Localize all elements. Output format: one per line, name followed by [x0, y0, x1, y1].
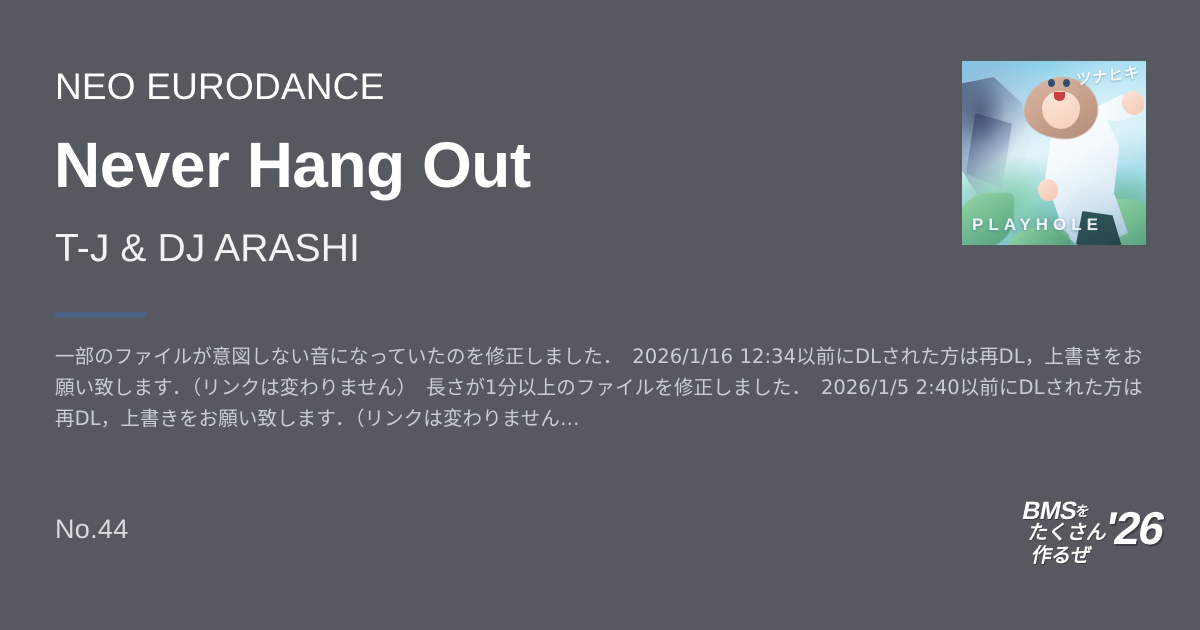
event-logo-line3: 作るぜ [1030, 545, 1092, 565]
artwork-character-eye-left [1048, 79, 1055, 87]
artwork-character-mouth [1054, 92, 1065, 101]
artist-name: T-J & DJ ARASHI [55, 229, 360, 268]
event-logo: BMS を たくさん 作るぜ '26 [1014, 497, 1160, 573]
artwork-character-hand-right [1122, 91, 1144, 115]
event-logo-particle: を [1074, 505, 1091, 519]
accent-divider [55, 312, 146, 317]
event-logo-line2: たくさん [1027, 522, 1109, 542]
genre-label: NEO EURODANCE [55, 68, 384, 105]
song-title: Never Hang Out [54, 133, 531, 197]
entry-number: No.44 [55, 516, 129, 543]
event-logo-year: '26 [1101, 505, 1168, 551]
artwork-label-text: PLAYHOLE [972, 215, 1103, 235]
artwork-character-eye-right [1063, 79, 1070, 87]
album-artwork[interactable]: ツナヒキ PLAYHOLE [962, 61, 1146, 245]
event-logo-inner: BMS を たくさん 作るぜ '26 [1007, 497, 1168, 573]
artwork-character-hand-left [1038, 179, 1058, 201]
bms-entry-card: NEO EURODANCE Never Hang Out T-J & DJ AR… [0, 0, 1200, 630]
description-text: 一部のファイルが意図しない音になっていたのを修正しました． 2026/1/16 … [55, 341, 1155, 451]
